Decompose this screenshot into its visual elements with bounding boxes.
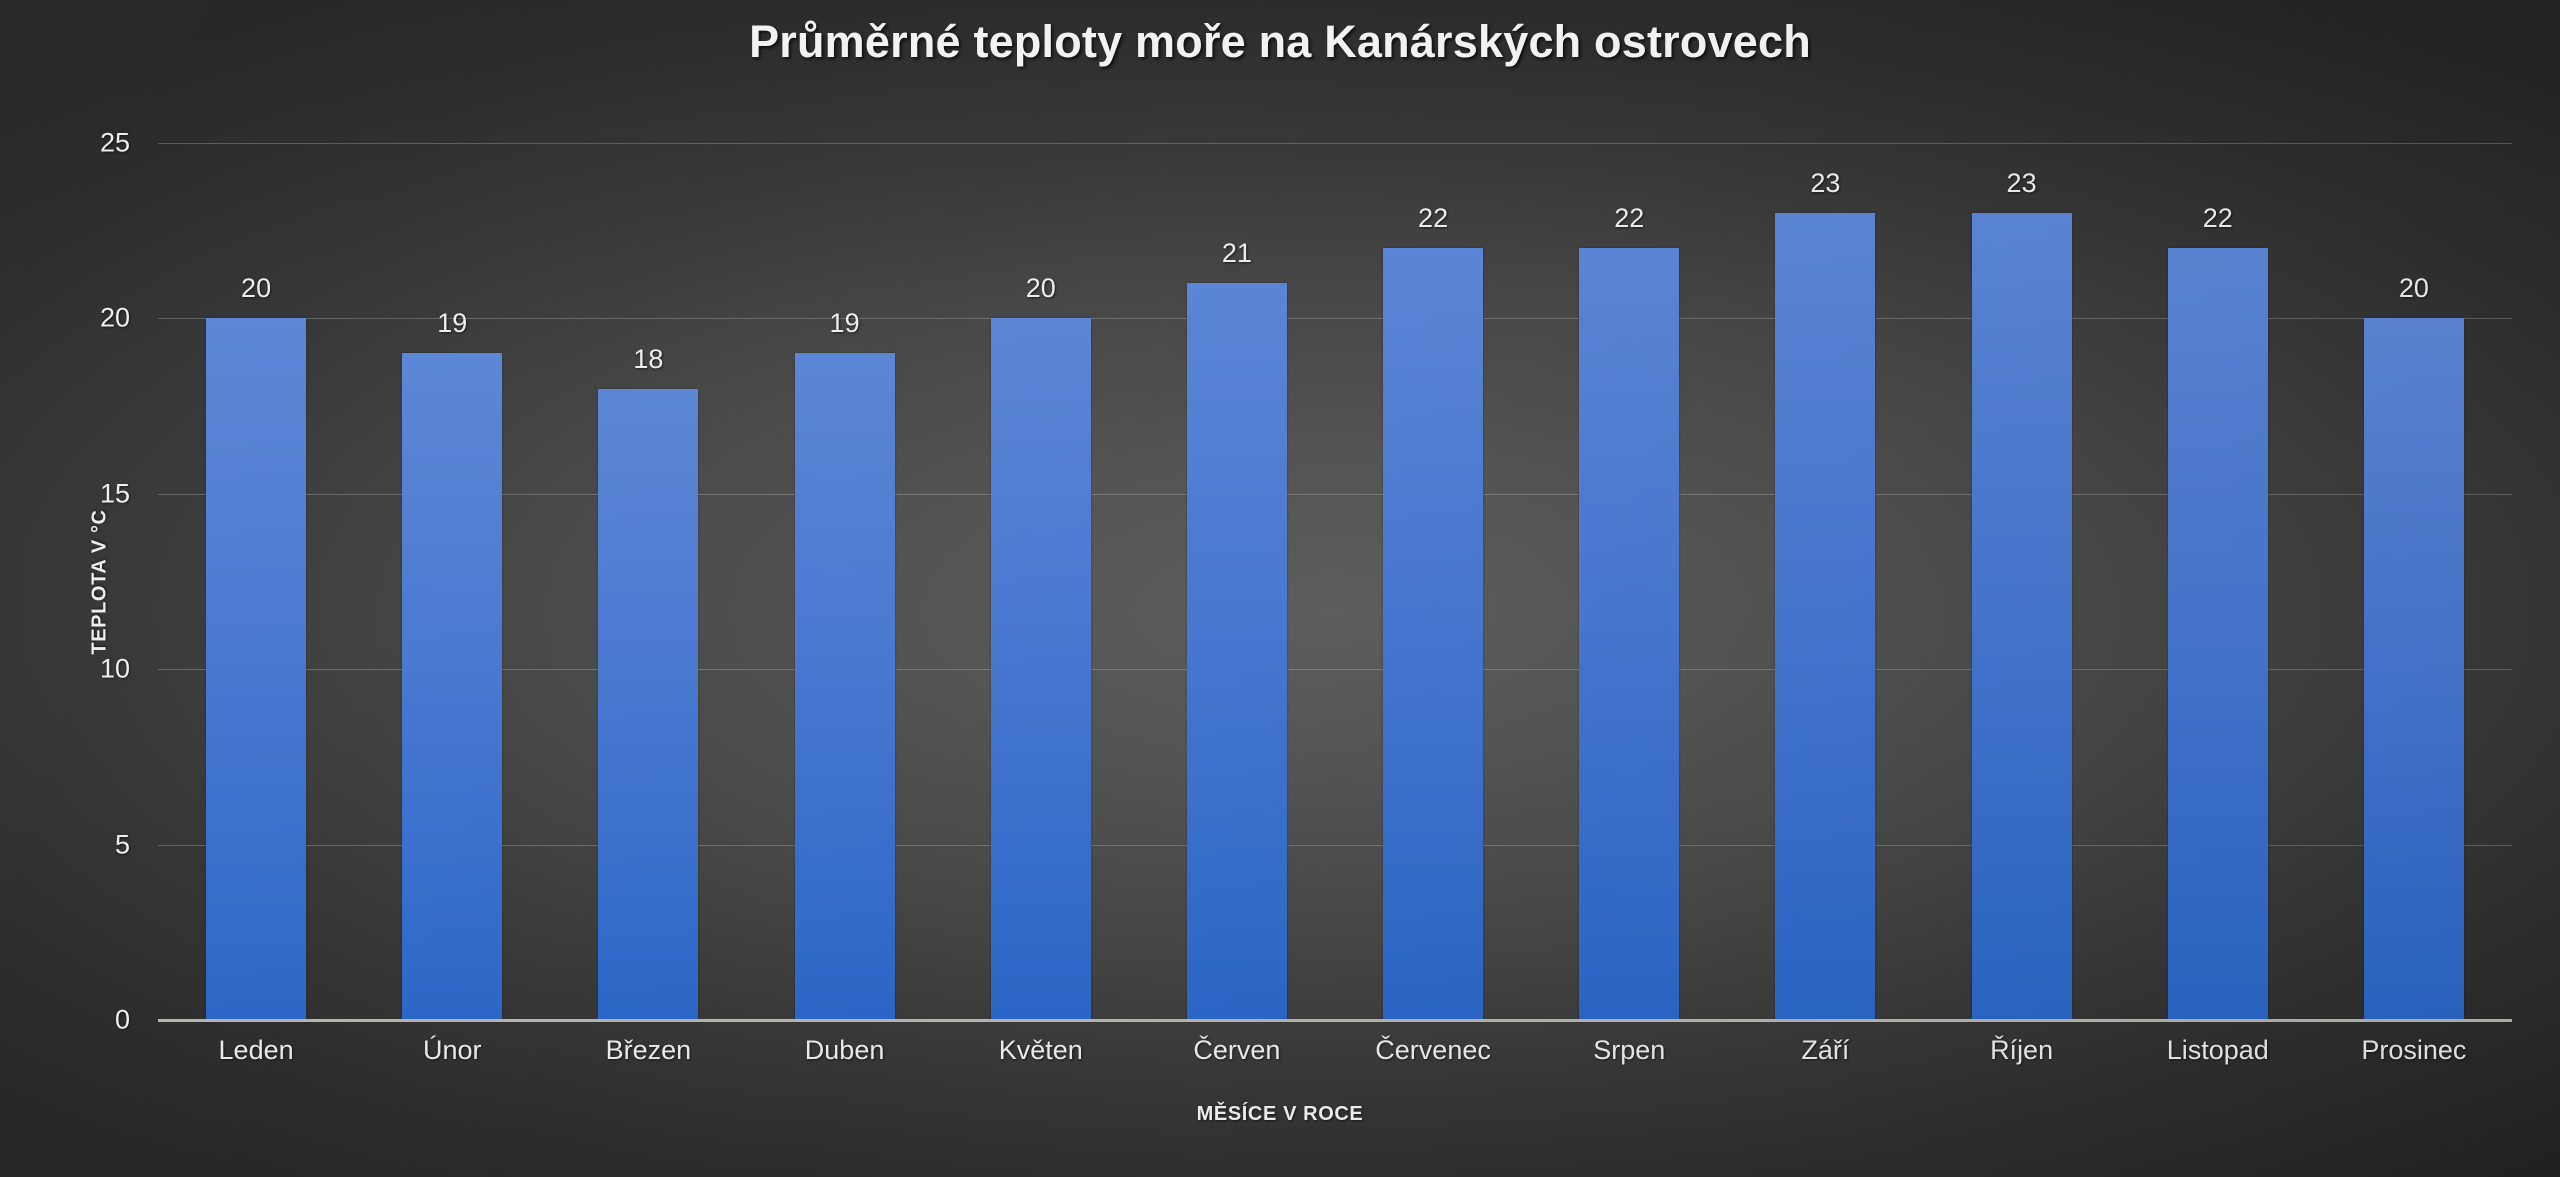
x-axis-tick-label: Prosinec <box>2361 1035 2466 1066</box>
bar-slot: 22 <box>1531 143 1727 1020</box>
bar-value-label: 19 <box>437 308 467 339</box>
bar-value-label: 20 <box>241 273 271 304</box>
y-axis-tick-label: 25 <box>40 128 130 159</box>
bar[interactable] <box>1187 283 1287 1020</box>
bars-layer: 201918192021222223232220 <box>158 143 2512 1020</box>
bar[interactable] <box>598 389 698 1020</box>
bar-slot: 18 <box>550 143 746 1020</box>
y-axis-tick-label: 20 <box>40 303 130 334</box>
bar-value-label: 23 <box>2007 168 2037 199</box>
bar-slot: 23 <box>1924 143 2120 1020</box>
x-axis-tick-label: Leden <box>219 1035 294 1066</box>
bar-slot: 21 <box>1139 143 1335 1020</box>
bar-value-label: 20 <box>2399 273 2429 304</box>
y-axis-title: TEPLOTA V °C <box>89 509 112 654</box>
x-axis-line <box>158 1019 2512 1022</box>
bar[interactable] <box>206 318 306 1020</box>
x-axis-tick-label: Listopad <box>2167 1035 2269 1066</box>
bar-slot: 19 <box>354 143 550 1020</box>
bar[interactable] <box>1972 213 2072 1020</box>
bar-value-label: 22 <box>2203 203 2233 234</box>
bar[interactable] <box>2364 318 2464 1020</box>
plot-area: 201918192021222223232220 TEPLOTA V °C <box>158 143 2512 1020</box>
bar-slot: 20 <box>2316 143 2512 1020</box>
bar[interactable] <box>795 353 895 1020</box>
bar-value-label: 22 <box>1418 203 1448 234</box>
y-axis-tick-label: 15 <box>40 478 130 509</box>
x-axis-tick-label: Duben <box>805 1035 885 1066</box>
bar-slot: 20 <box>943 143 1139 1020</box>
bar[interactable] <box>402 353 502 1020</box>
y-axis-tick-label: 5 <box>40 829 130 860</box>
bar[interactable] <box>1383 248 1483 1020</box>
bar[interactable] <box>2168 248 2268 1020</box>
bar-slot: 20 <box>158 143 354 1020</box>
x-axis-tick-label: Červen <box>1193 1035 1280 1066</box>
y-axis-tick-label: 0 <box>40 1005 130 1036</box>
x-axis-tick-label: Srpen <box>1593 1035 1665 1066</box>
y-axis-tick-label: 10 <box>40 654 130 685</box>
bar-slot: 23 <box>1727 143 1923 1020</box>
x-axis-tick-label: Říjen <box>1990 1035 2053 1066</box>
bar[interactable] <box>1775 213 1875 1020</box>
x-axis-tick-label: Červenec <box>1375 1035 1491 1066</box>
x-axis-title: MĚSÍCE V ROCE <box>0 1103 2560 1126</box>
bar-slot: 22 <box>2120 143 2316 1020</box>
bar-value-label: 21 <box>1222 238 1252 269</box>
x-axis-tick-label: Únor <box>423 1035 482 1066</box>
bar-slot: 22 <box>1335 143 1531 1020</box>
bar[interactable] <box>991 318 1091 1020</box>
x-axis-tick-label: Březen <box>606 1035 692 1066</box>
bar-value-label: 23 <box>1810 168 1840 199</box>
bar-chart: Průměrné teploty moře na Kanárských ostr… <box>0 0 2560 1177</box>
bar-value-label: 20 <box>1026 273 1056 304</box>
bar[interactable] <box>1579 248 1679 1020</box>
bar-value-label: 19 <box>830 308 860 339</box>
x-axis-tick-label: Květen <box>999 1035 1083 1066</box>
chart-title: Průměrné teploty moře na Kanárských ostr… <box>0 16 2560 68</box>
bar-slot: 19 <box>747 143 943 1020</box>
bar-value-label: 22 <box>1614 203 1644 234</box>
bar-value-label: 18 <box>633 344 663 375</box>
x-axis-tick-label: Září <box>1801 1035 1849 1066</box>
